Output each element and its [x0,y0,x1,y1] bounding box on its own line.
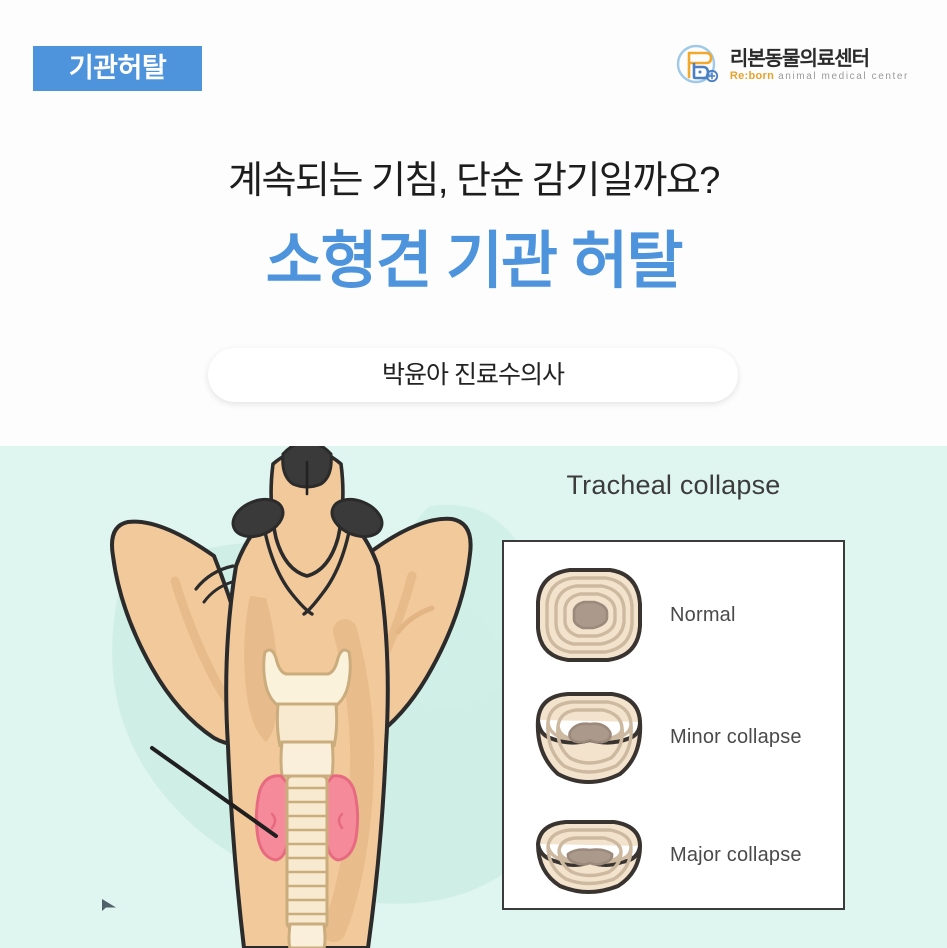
brand-logo: 리본동물의료센터 Re:born animal medical center [675,42,909,88]
diagram-row: Normal [504,560,847,670]
diagram-row: Minor collapse [504,682,847,792]
diagram-row: Major collapse [504,800,847,910]
cursor-arrow-icon [101,898,117,915]
speaker-pill: 박윤아 진료수의사 [208,348,738,402]
diagram-label: Normal [670,605,736,625]
diagram-label: Minor collapse [670,727,802,747]
speaker-name: 박윤아 진료수의사 [382,363,564,388]
trachea-cross-section-major-collapse-icon [518,800,658,910]
infographic-page: 기관허탈 리본동물의료센터 Re:born animal medical [0,0,947,948]
brand-name-english-primary: Re:born [730,71,774,82]
hero-title: 소형견 기관 허탈 [0,225,947,299]
category-badge-label: 기관허탈 [69,55,166,82]
illustration-section: Trachea Tracheal collapse Normal [0,446,947,948]
tracheal-collapse-diagram-panel: Normal Minor collapse [502,540,845,910]
trachea-cross-section-normal-icon [518,560,658,670]
brand-name-english-secondary: animal medical center [778,72,909,82]
brand-text-block: 리본동물의료센터 Re:born animal medical center [730,49,909,82]
brand-name-korean: 리본동물의료센터 [730,49,909,69]
trachea-cross-section-minor-collapse-icon [518,682,658,792]
hero-kicker: 계속되는 기침, 단순 감기일까요? [0,160,947,204]
header-section: 기관허탈 리본동물의료센터 Re:born animal medical [0,0,947,446]
brand-name-english-row: Re:born animal medical center [730,71,909,82]
diagram-title: Tracheal collapse [502,472,845,499]
reborn-logo-mark-icon [675,42,721,88]
diagram-label: Major collapse [670,845,802,865]
category-badge: 기관허탈 [33,46,202,91]
